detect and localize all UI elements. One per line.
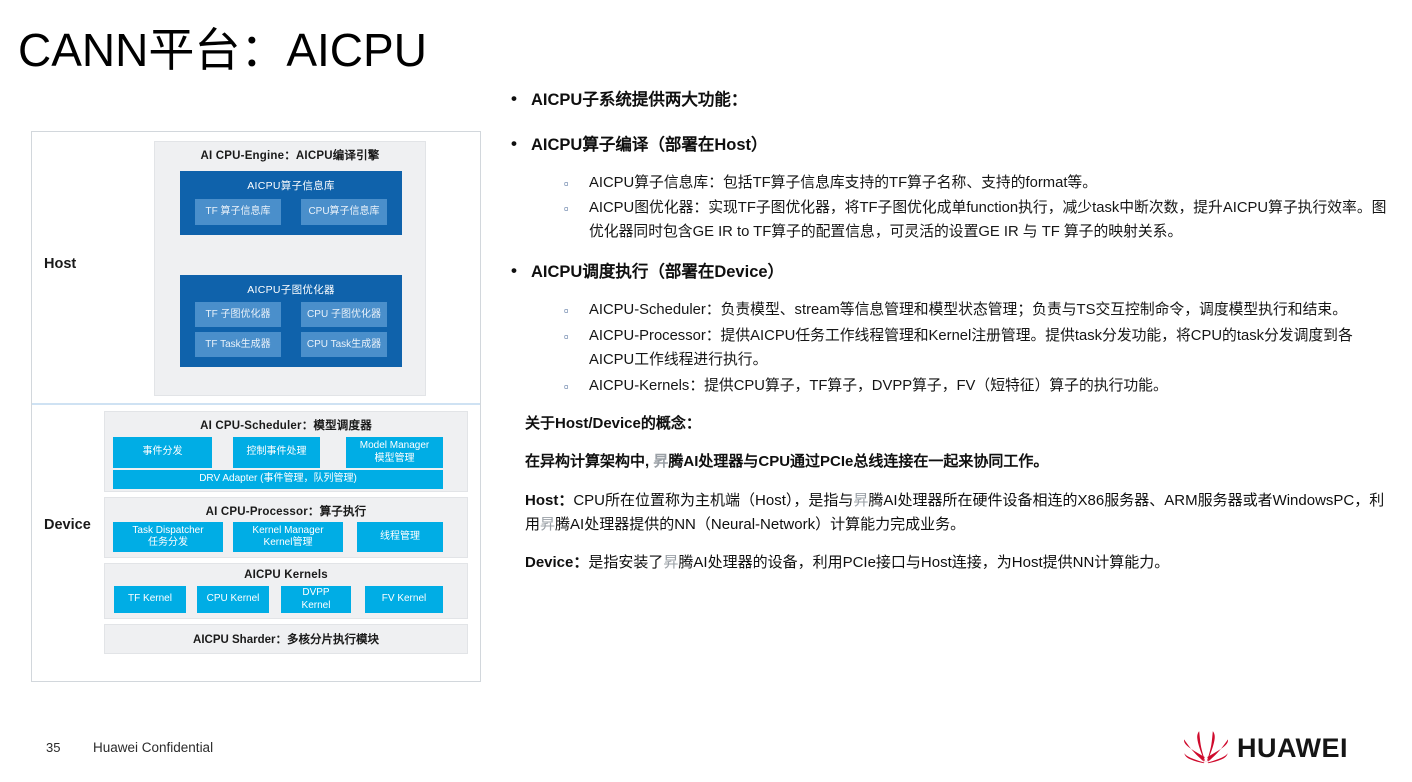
cpu-task-generator-box[interactable]: CPU Task生成器 [301, 332, 387, 357]
aicpu-subgraph-optimizer-group: AICPU子图优化器 TF 子图优化器 CPU 子图优化器 TF Task生成器… [180, 275, 402, 367]
device-text-b: 腾AI处理器的设备，利用PCIe接口与Host连接，为Host提供NN计算能力。 [678, 554, 1169, 571]
host-text-a: CPU所在位置称为主机端（Host），是指与 [573, 492, 853, 509]
host-region: Host AI CPU-Engine：AICPU编译引擎 AICPU算子信息库 … [32, 132, 480, 405]
architecture-diagram: Host AI CPU-Engine：AICPU编译引擎 AICPU算子信息库 … [31, 131, 481, 682]
huawei-logo: HUAWEI [1184, 730, 1348, 766]
ai-cpu-scheduler-title: AI CPU-Scheduler：模型调度器 [105, 412, 467, 433]
bullet-compile-heading: AICPU算子编译（部署在Host） [505, 133, 1395, 158]
host-label: Host [44, 256, 76, 272]
device-lead: Device： [525, 554, 588, 571]
cpu-op-info-lib-box[interactable]: CPU算子信息库 [301, 199, 387, 225]
device-definition: Device：是指安装了昇腾AI处理器的设备，利用PCIe接口与Host连接，为… [505, 551, 1395, 575]
task-dispatcher-box[interactable]: Task Dispatcher 任务分发 [113, 522, 223, 552]
device-region: Device AI CPU-Scheduler：模型调度器 事件分发 控制事件处… [32, 405, 480, 681]
brand-name: HUAWEI [1237, 733, 1348, 764]
bullet-schedule-heading: AICPU调度执行（部署在Device） [505, 260, 1395, 285]
page-number: 35 [46, 740, 60, 755]
concepts-statement: 在异构计算架构中, 昇腾AI处理器与CPU通过PCIe总线连接在一起来协同工作。 [505, 450, 1395, 474]
kernel-manager-box[interactable]: Kernel Manager Kernel管理 [233, 522, 343, 552]
aicpu-op-info-lib-group: AICPU算子信息库 TF 算子信息库 CPU算子信息库 [180, 171, 402, 235]
event-dispatch-box[interactable]: 事件分发 [113, 437, 212, 468]
sub-bullet-op-info-lib: AICPU算子信息库：包括TF算子信息库支持的TF算子名称、支持的format等… [505, 172, 1395, 196]
host-definition: Host：CPU所在位置称为主机端（Host），是指与昇腾AI处理器所在硬件设备… [505, 489, 1395, 538]
ai-cpu-processor-title: AI CPU-Processor：算子执行 [105, 498, 467, 519]
page-title: CANN平台：AICPU [18, 14, 427, 80]
dvpp-kernel-box[interactable]: DVPP Kernel [281, 586, 351, 613]
fv-kernel-box[interactable]: FV Kernel [365, 586, 443, 613]
bullet-intro: AICPU子系统提供两大功能： [505, 88, 1395, 113]
device-label: Device [44, 517, 91, 533]
host-lead: Host： [525, 492, 573, 509]
slide-canvas: CANN平台：AICPU Host AI CPU-Engine：AICPU编译引… [0, 0, 1412, 782]
ai-cpu-processor-panel: AI CPU-Processor：算子执行 Task Dispatcher 任务… [104, 497, 468, 558]
statement-pre: 在异构计算架构中, [525, 453, 653, 470]
ascend-char: 昇 [653, 453, 668, 470]
concepts-heading: 关于Host/Device的概念： [505, 412, 1395, 436]
statement-post: 腾AI处理器与CPU通过PCIe总线连接在一起来协同工作。 [668, 453, 1048, 470]
aicpu-subgraph-optimizer-title: AICPU子图优化器 [180, 275, 402, 297]
device-text-a: 是指安装了 [588, 554, 663, 571]
ascend-char: 昇 [663, 554, 678, 571]
sub-bullet-processor: AICPU-Processor：提供AICPU任务工作线程管理和Kernel注册… [505, 325, 1395, 373]
control-event-handling-box[interactable]: 控制事件处理 [233, 437, 320, 468]
sub-bullet-scheduler: AICPU-Scheduler：负责模型、stream等信息管理和模型状态管理；… [505, 299, 1395, 323]
ai-cpu-scheduler-panel: AI CPU-Scheduler：模型调度器 事件分发 控制事件处理 Model… [104, 411, 468, 492]
cpu-kernel-box[interactable]: CPU Kernel [197, 586, 269, 613]
tf-task-generator-box[interactable]: TF Task生成器 [195, 332, 281, 357]
tf-kernel-box[interactable]: TF Kernel [114, 586, 186, 613]
cpu-subgraph-optimizer-box[interactable]: CPU 子图优化器 [301, 302, 387, 327]
ascend-char: 昇 [853, 492, 868, 509]
model-manager-box[interactable]: Model Manager 模型管理 [346, 437, 443, 468]
ai-cpu-engine-panel: AI CPU-Engine：AICPU编译引擎 AICPU算子信息库 TF 算子… [154, 141, 426, 396]
host-text-c: 腾AI处理器提供的NN（Neural-Network）计算能力完成业务。 [555, 516, 965, 533]
tf-subgraph-optimizer-box[interactable]: TF 子图优化器 [195, 302, 281, 327]
tf-op-info-lib-box[interactable]: TF 算子信息库 [195, 199, 281, 225]
huawei-flower-icon [1184, 730, 1228, 766]
aicpu-sharder-box: AICPU Sharder：多核分片执行模块 [104, 624, 468, 654]
aicpu-op-info-lib-title: AICPU算子信息库 [180, 171, 402, 193]
sub-bullet-graph-optimizer: AICPU图优化器：实现TF子图优化器，将TF子图优化成单function执行，… [505, 197, 1395, 245]
content-column: AICPU子系统提供两大功能： AICPU算子编译（部署在Host） AICPU… [505, 88, 1395, 579]
aicpu-kernels-panel: AICPU Kernels TF Kernel CPU Kernel DVPP … [104, 563, 468, 619]
ai-cpu-engine-title: AI CPU-Engine：AICPU编译引擎 [155, 142, 425, 163]
drv-adapter-box[interactable]: DRV Adapter (事件管理，队列管理) [113, 470, 443, 489]
thread-management-box[interactable]: 线程管理 [357, 522, 443, 552]
ascend-char: 昇 [540, 516, 555, 533]
aicpu-kernels-title: AICPU Kernels [105, 564, 467, 581]
confidentiality-notice: Huawei Confidential [93, 740, 213, 755]
sub-bullet-kernels: AICPU-Kernels：提供CPU算子，TF算子，DVPP算子，FV（短特征… [505, 375, 1395, 399]
